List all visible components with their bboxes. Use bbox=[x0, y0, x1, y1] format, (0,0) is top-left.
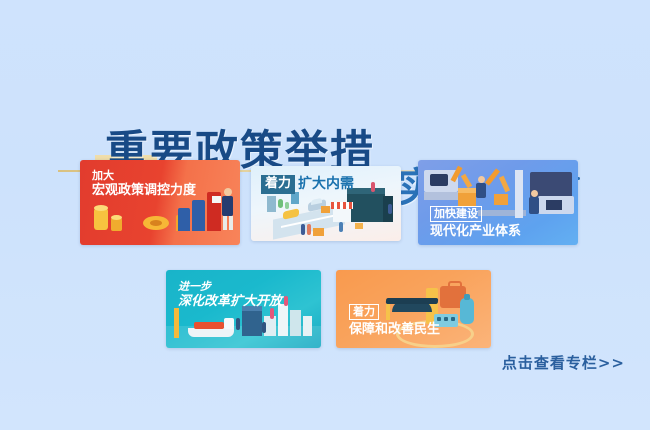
card5-caption: 着力 保障和改善民生 bbox=[349, 300, 440, 339]
card5-caption-line-2: 保障和改善民生 bbox=[349, 322, 440, 338]
policy-card-expand-demand[interactable]: 着力扩大内需 bbox=[251, 166, 401, 241]
card3-caption-line-1: 加快建设 bbox=[430, 206, 482, 222]
card5-caption-line-1: 着力 bbox=[349, 304, 379, 320]
card1-caption-line-1: 加大 bbox=[92, 169, 196, 183]
card2-caption-line-2: 扩大内需 bbox=[298, 176, 354, 194]
view-column-link[interactable]: 点击查看专栏>> bbox=[502, 352, 625, 373]
card1-caption: 加大 宏观政策调控力度 bbox=[92, 169, 196, 199]
card2-caption-line-1: 着力 bbox=[261, 175, 295, 193]
card4-caption-line-1: 进一步 bbox=[178, 280, 282, 294]
policy-card-modern-industry[interactable]: 加快建设 现代化产业体系 bbox=[418, 160, 578, 245]
policy-measures-banner: 重要政策举措 及实施效果 bbox=[0, 0, 650, 430]
card2-caption: 着力扩大内需 bbox=[261, 174, 354, 194]
policy-card-reform-opening[interactable]: 进一步 深化改革扩大开放 bbox=[166, 270, 321, 348]
card3-caption-line-2: 现代化产业体系 bbox=[430, 224, 521, 240]
card3-caption: 加快建设 现代化产业体系 bbox=[430, 202, 521, 241]
policy-card-grid: 加大 宏观政策调控力度 bbox=[0, 158, 650, 348]
card4-caption-line-2: 深化改革扩大开放 bbox=[178, 294, 282, 310]
card4-caption: 进一步 深化改革扩大开放 bbox=[178, 280, 282, 310]
policy-card-macro-regulation[interactable]: 加大 宏观政策调控力度 bbox=[80, 160, 240, 245]
card1-caption-line-2: 宏观政策调控力度 bbox=[92, 183, 196, 199]
banner-title-area: 重要政策举措 及实施效果 bbox=[0, 55, 650, 150]
policy-card-livelihood[interactable]: 着力 保障和改善民生 bbox=[336, 270, 491, 348]
